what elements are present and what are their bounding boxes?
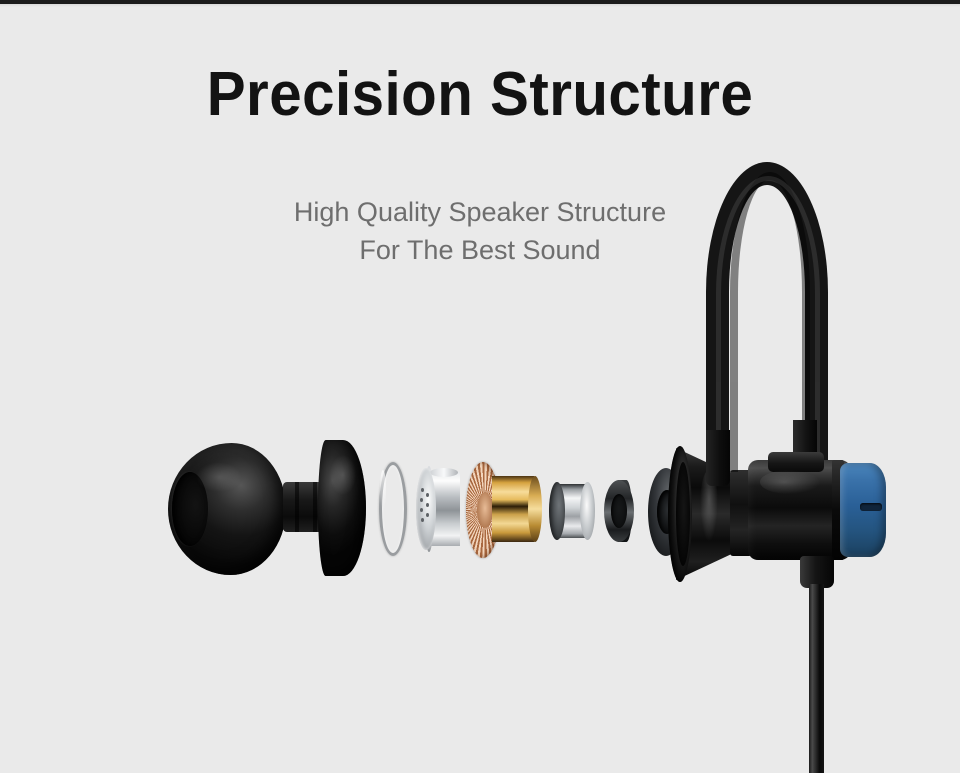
ear-hook-foot bbox=[706, 430, 730, 486]
perforation-hole bbox=[426, 503, 429, 507]
perforation-hole bbox=[420, 498, 423, 502]
voice-coil-end-face bbox=[528, 476, 542, 542]
earphone-exploded-diagram bbox=[0, 0, 960, 773]
driver-housing-face bbox=[416, 468, 436, 550]
driver-housing-rim bbox=[430, 468, 458, 477]
acoustic-cone-aperture bbox=[676, 462, 690, 566]
sound-nozzle-highlight bbox=[330, 455, 356, 495]
magnet-face-back bbox=[580, 482, 595, 540]
earphone-body-highlight bbox=[760, 470, 820, 494]
perforation-hole bbox=[421, 518, 424, 522]
sound-nozzle-rib bbox=[313, 482, 317, 532]
perforation-hole bbox=[426, 493, 429, 497]
blue-end-cap-slot bbox=[860, 503, 882, 511]
audio-cable bbox=[809, 584, 824, 773]
product-feature-banner: Precision Structure High Quality Speaker… bbox=[0, 0, 960, 773]
sealing-o-ring-highlight bbox=[380, 470, 386, 510]
ear-tip-highlight bbox=[196, 462, 242, 492]
perforation-hole bbox=[420, 508, 423, 512]
magnet-face-front bbox=[549, 482, 565, 540]
perforation-hole bbox=[426, 513, 429, 517]
washer-ring-bore bbox=[611, 494, 627, 528]
sound-nozzle-rib bbox=[295, 482, 299, 532]
voice-coil-center bbox=[477, 492, 493, 528]
earphone-body-collar bbox=[768, 452, 824, 472]
perforation-hole bbox=[421, 488, 424, 492]
